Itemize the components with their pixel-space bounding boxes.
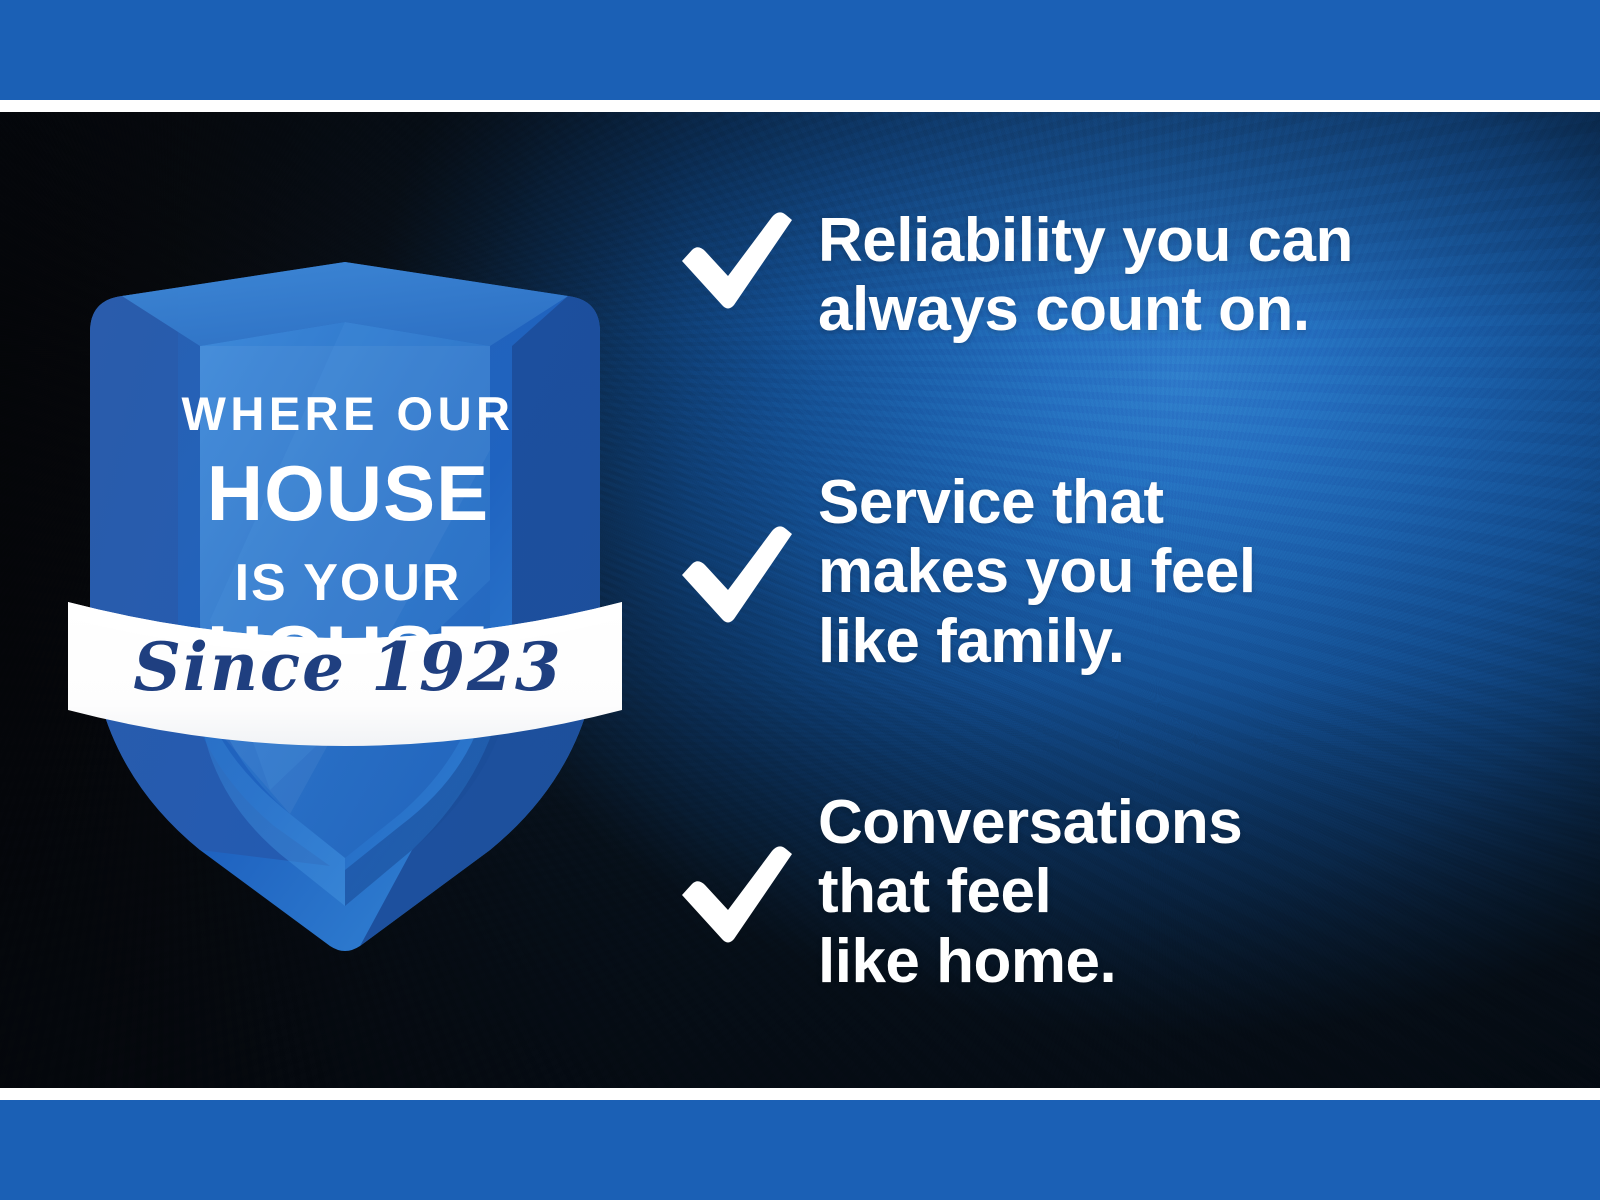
list-item-text: Conversations that feel like home. [818, 788, 1242, 996]
list-item-text: Reliability you can always count on. [818, 206, 1353, 345]
shield-badge: WHERE OUR HOUSE IS YOUR HOUSE Since 1923 [60, 150, 630, 950]
check-icon [672, 840, 796, 950]
list-item: Service that makes you feel like family. [672, 468, 1552, 676]
top-brand-bar [0, 0, 1600, 100]
list-item: Conversations that feel like home. [672, 788, 1552, 996]
list-item-text: Service that makes you feel like family. [818, 468, 1256, 676]
check-icon [672, 206, 796, 316]
top-separator [0, 100, 1600, 112]
badge-line-1: WHERE OUR [182, 387, 515, 440]
bottom-separator [0, 1088, 1600, 1100]
check-icon [672, 520, 796, 630]
badge-line-2: HOUSE [207, 449, 489, 537]
ribbon-label: Since 1923 [133, 628, 563, 706]
list-item: Reliability you can always count on. [672, 206, 1552, 345]
marketing-banner: WHERE OUR HOUSE IS YOUR HOUSE Since 1923… [0, 0, 1600, 1200]
badge-line-3: IS YOUR [235, 554, 462, 612]
bottom-brand-bar [0, 1100, 1600, 1200]
